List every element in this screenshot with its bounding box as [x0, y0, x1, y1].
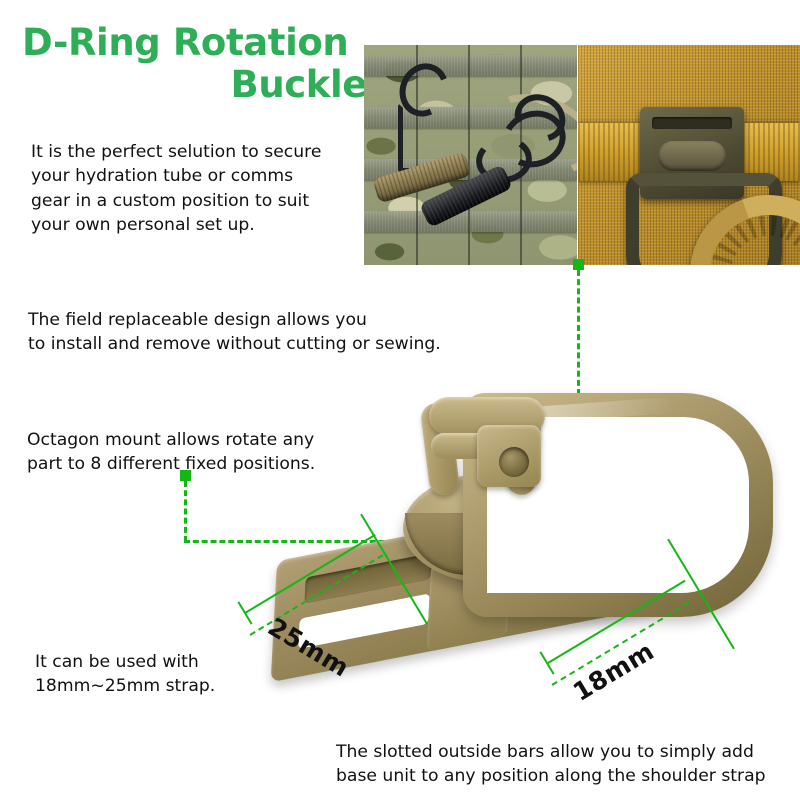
molle-camo-photo: [364, 45, 577, 265]
paragraph-field-replaceable: The field replaceable design allows you …: [28, 308, 498, 357]
page-title: D-Ring Rotation Buckle: [22, 22, 367, 106]
title-line-1: D-Ring Rotation: [22, 22, 367, 64]
infographic-page: D-Ring Rotation Buckle It is the perfect…: [0, 0, 800, 800]
molle-row: [364, 211, 577, 232]
molle-row: [364, 55, 577, 76]
coyote-closeup-photo: [578, 45, 800, 265]
dring-clip: [398, 103, 420, 173]
octagon-callout-line-vertical: [184, 481, 187, 542]
octagon-callout-marker: [180, 470, 191, 481]
paragraph-intro: It is the perfect selution to secure you…: [31, 140, 361, 238]
pivot-yoke: [425, 403, 555, 499]
paragraph-slotted-bars: The slotted outside bars allow you to si…: [336, 740, 800, 789]
dring-callout-marker: [573, 259, 584, 270]
dim-25mm-tick-start: [237, 601, 252, 624]
pivot-hole: [499, 447, 529, 477]
molle-stitch: [468, 45, 470, 265]
title-line-2: Buckle: [22, 64, 367, 106]
